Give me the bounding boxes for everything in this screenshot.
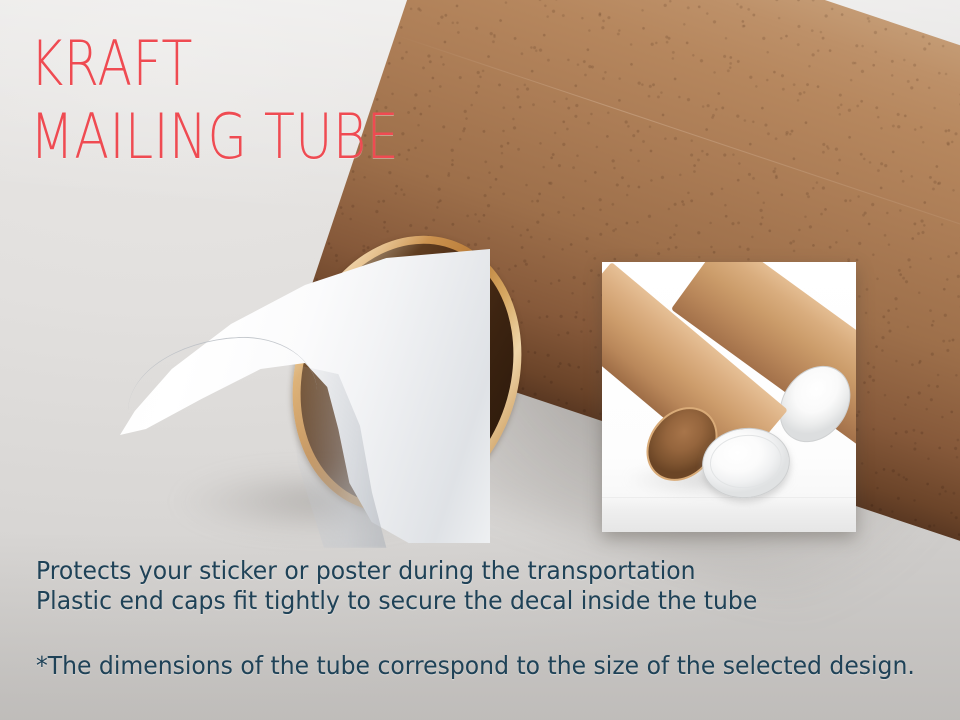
feature-description: Protects your sticker or poster during t… xyxy=(36,556,803,616)
white-poster-curl xyxy=(120,243,490,543)
feature-line-1: Protects your sticker or poster during t… xyxy=(36,556,757,586)
inset-product-photo xyxy=(602,262,856,532)
headline-line-2: MAILING TUBE xyxy=(30,107,399,168)
page-title: KRAFT MAILING TUBE xyxy=(30,34,480,168)
product-banner: KRAFT MAILING TUBE Protects your sticker… xyxy=(0,0,960,720)
inset-studio-floor xyxy=(602,497,856,532)
inset-photo-scene xyxy=(602,262,856,532)
footnote-text: *The dimensions of the tube correspond t… xyxy=(36,651,915,681)
feature-line-2: Plastic end caps fit tightly to secure t… xyxy=(36,586,757,616)
headline-line-1: KRAFT xyxy=(30,34,399,95)
